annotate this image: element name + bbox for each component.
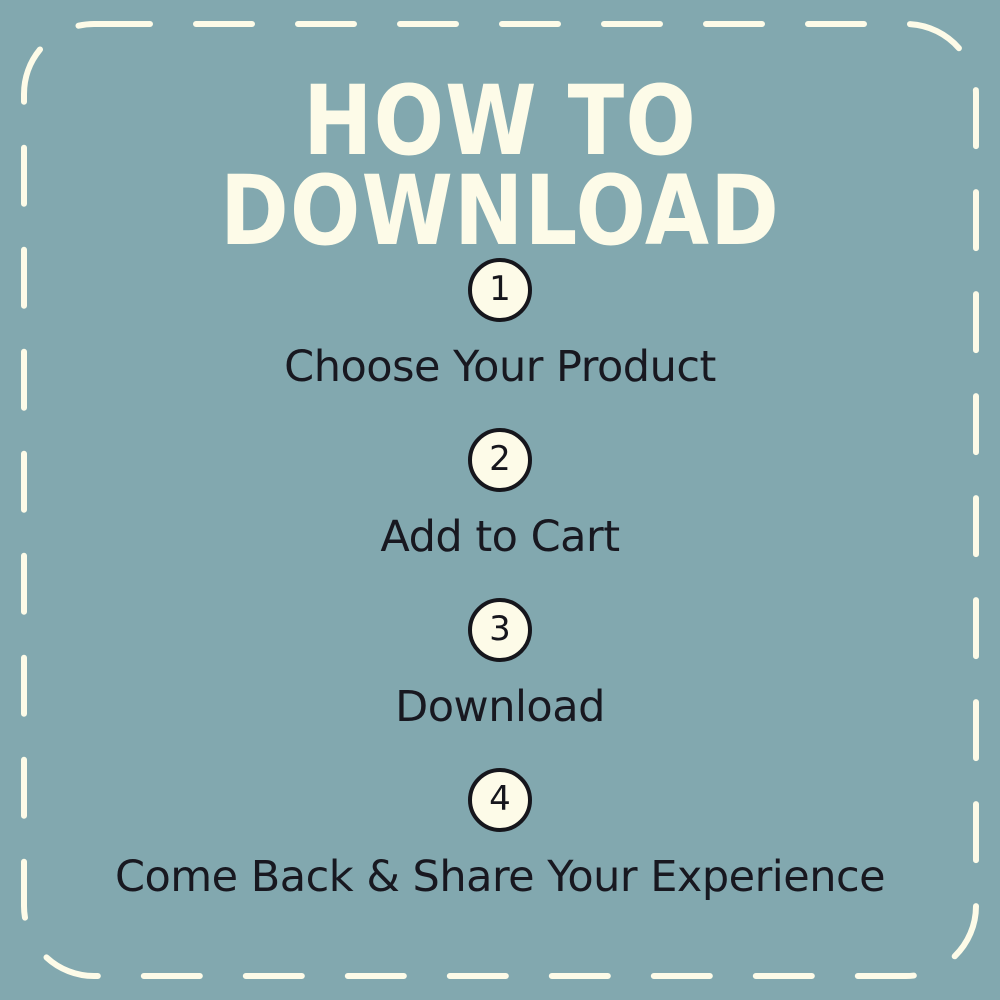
step-label-1: Choose Your Product [0, 342, 1000, 392]
steps-list: 1 Choose Your Product 2 Add to Cart 3 Do… [0, 258, 1000, 902]
step-item-1: 1 Choose Your Product [0, 258, 1000, 392]
step-label-3: Download [0, 682, 1000, 732]
step-item-4: 4 Come Back & Share Your Experience [0, 768, 1000, 902]
step-badge-4: 4 [468, 768, 532, 832]
step-number-1: 1 [489, 272, 511, 306]
step-number-3: 3 [489, 612, 511, 646]
step-badge-1: 1 [468, 258, 532, 322]
title-line-download: DOWNLOAD [0, 166, 1000, 259]
how-to-download-poster: HOW TO DOWNLOAD 1 Choose Your Product 2 … [0, 0, 1000, 1000]
step-label-2: Add to Cart [0, 512, 1000, 562]
step-number-2: 2 [489, 442, 511, 476]
step-badge-2: 2 [468, 428, 532, 492]
step-badge-3: 3 [468, 598, 532, 662]
step-label-4: Come Back & Share Your Experience [0, 852, 1000, 902]
step-item-3: 3 Download [0, 598, 1000, 732]
step-number-4: 4 [489, 782, 511, 816]
page-title: HOW TO DOWNLOAD [0, 76, 1000, 238]
step-item-2: 2 Add to Cart [0, 428, 1000, 562]
